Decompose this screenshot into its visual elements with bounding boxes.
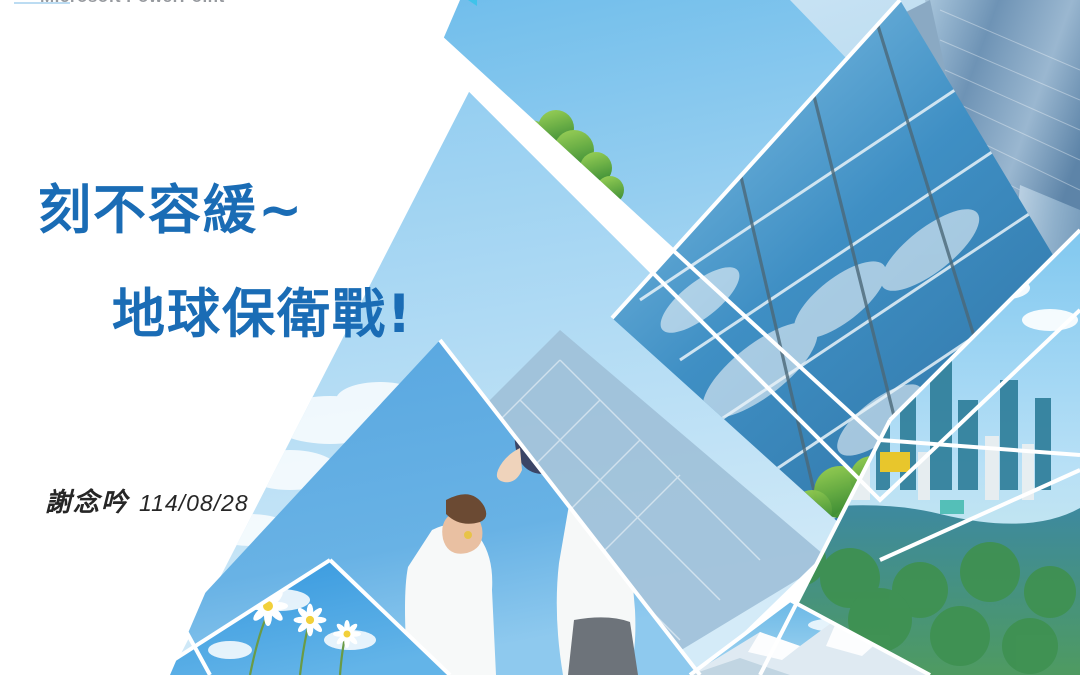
byline-author: 謝念吟 [45,487,129,517]
page-title-line-2: 地球保衛戰! [112,272,413,348]
title-text-block: 刻不容緩~ 地球保衛戰! 謝念吟114/08/28 [0,0,520,675]
top-cutoff-strip: Microsoft PowerPoint [0,0,1080,9]
byline-date: 114/08/28 [139,490,249,516]
cyan-play-marker-icon [457,0,479,14]
top-strip-text: Microsoft PowerPoint [40,0,225,7]
page-title-line-1: 刻不容緩~ [38,168,304,244]
byline: 謝念吟114/08/28 [45,482,249,519]
title-slide: Microsoft PowerPoint 刻不容緩~ 地球保衛戰! 謝念吟114… [0,0,1080,675]
